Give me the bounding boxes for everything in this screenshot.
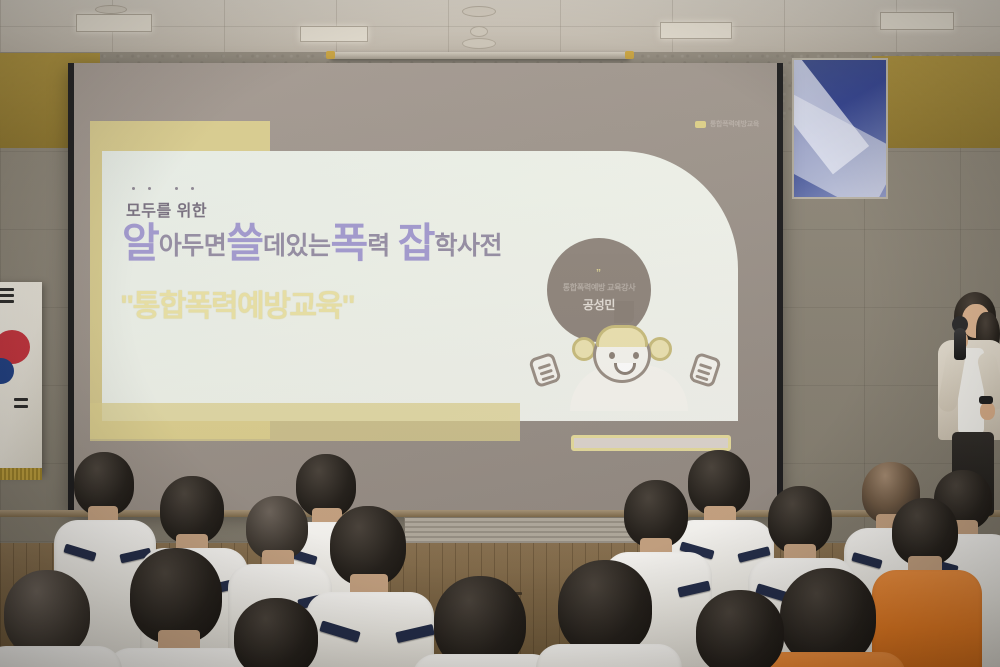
- headline-part: 학사전: [434, 232, 502, 260]
- mascot-character: [514, 319, 744, 429]
- mascot-hair-bun-right: [648, 337, 672, 361]
- dot-icon: [175, 187, 178, 190]
- dot-icon: [191, 187, 194, 190]
- slide-headline: 알아두면쓸데있는폭력잡학사전: [122, 223, 502, 264]
- ceiling-light-panel: [660, 22, 732, 39]
- slide-logo-text: 통합폭력예방교육: [710, 119, 759, 129]
- uniform-shirt: [536, 644, 682, 667]
- audience-member: [688, 590, 798, 667]
- headline-part: 잡: [398, 220, 435, 266]
- slide-accent-band-bottom: [90, 403, 520, 441]
- trigram-icon: [14, 398, 28, 401]
- mascot-hand-right: [688, 352, 722, 389]
- mascot-eye-right: [633, 352, 639, 359]
- mascot-hand-left: [528, 352, 562, 389]
- headline-part: 알: [122, 220, 159, 266]
- speaker-name: 공성민: [583, 296, 615, 313]
- headline-part: 아두면: [159, 232, 227, 260]
- ceiling-light-panel: [880, 12, 954, 30]
- wall-banner-right: [792, 58, 888, 199]
- roller-cap: [625, 51, 634, 59]
- mascot-fringe: [596, 325, 648, 347]
- trigram-icon: [14, 405, 28, 408]
- mascot-finger: [695, 374, 708, 381]
- audience-member: [318, 506, 424, 667]
- slide-bottom-bar: [571, 435, 731, 451]
- headline-part: 쓸: [226, 220, 263, 266]
- mascot-eye-left: [609, 352, 615, 359]
- microphone: [954, 328, 966, 360]
- audience-member: [426, 576, 544, 667]
- dot-icon: [132, 187, 135, 190]
- audience-member: [0, 570, 110, 667]
- slide-eyebrow: 모두를 위한: [126, 197, 207, 221]
- audience-member: [120, 548, 240, 667]
- presentation-slide: 통합폭력예방교육 모두를 위한 알아두면쓸데있는폭력잡학사전 "통합폭력예방교육…: [74, 63, 777, 513]
- speaker-role: 통합폭력예방 교육강사: [563, 282, 636, 293]
- uniform-shirt: [0, 646, 122, 667]
- wall-panel-right: [872, 56, 1000, 148]
- lecture-hall-photo: ❄ 통합폭력예방교육: [0, 0, 1000, 667]
- decorative-dots: [132, 187, 194, 190]
- trigram-icon: [0, 288, 14, 291]
- ceiling-light-panel: [76, 14, 152, 32]
- ceiling: [0, 0, 1000, 58]
- trigram-icon: [0, 300, 14, 303]
- dot-icon: [148, 187, 151, 190]
- mascot-finger: [541, 374, 554, 381]
- logo-mark-icon: [695, 121, 706, 128]
- presenter-hand: [980, 402, 995, 420]
- slide-subtitle: "통합폭력예방교육": [120, 281, 354, 325]
- head: [558, 560, 652, 656]
- ceiling-speaker-icon: [462, 6, 496, 17]
- projection-screen: 통합폭력예방교육 모두를 위한 알아두면쓸데있는폭력잡학사전 "통합폭력예방교육…: [68, 63, 783, 513]
- headline-part: 력: [367, 232, 390, 260]
- slide-logo: 통합폭력예방교육: [695, 119, 759, 129]
- trigram-icon: [0, 294, 14, 297]
- audience-member: [880, 498, 972, 667]
- audience-member: [548, 560, 668, 667]
- headline-part: 데있는: [263, 232, 331, 260]
- head: [4, 570, 90, 658]
- wristwatch: [979, 396, 993, 404]
- korean-flag: [0, 282, 42, 474]
- audience-member: [228, 598, 332, 667]
- uniform-shirt: [412, 654, 556, 667]
- sprinkler-icon: [470, 26, 488, 37]
- flag-fringe: [0, 468, 42, 480]
- head: [696, 590, 784, 667]
- head: [234, 598, 318, 667]
- screen-frame-right: [777, 63, 783, 513]
- headline-part: 폭: [331, 220, 368, 266]
- roller-cap: [326, 51, 335, 59]
- ceiling-speaker-icon: [462, 38, 496, 49]
- mascot-collar-icon: [615, 385, 629, 394]
- ceiling-light-panel: [300, 26, 368, 42]
- ceiling-vent-icon: [95, 5, 127, 14]
- bubble-quote-icon: ”: [596, 268, 602, 279]
- projector-screen-roller[interactable]: [330, 52, 630, 59]
